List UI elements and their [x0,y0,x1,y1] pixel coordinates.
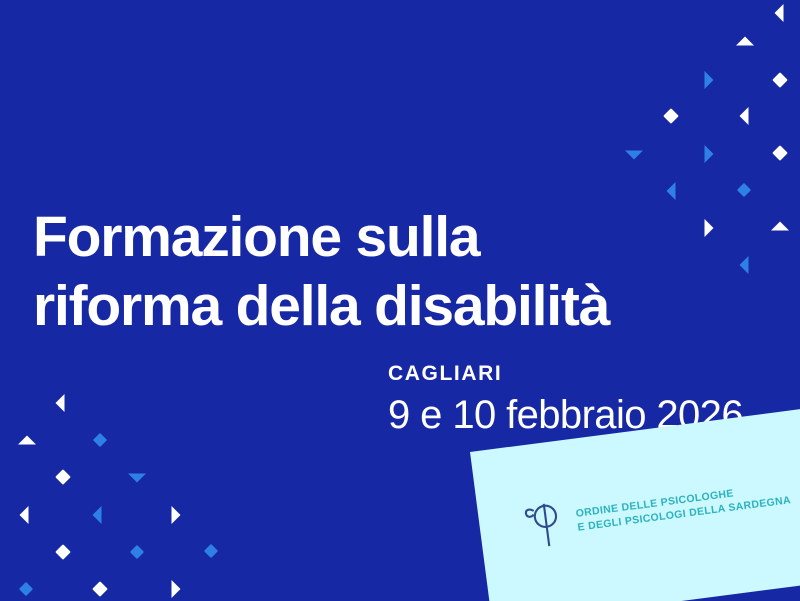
logo-text-block: ORDINE DELLE PSICOLOGHE E DEGLI PSICOLOG… [575,479,792,534]
triangle-shape [20,506,29,524]
diamond-shape [93,433,107,447]
diamond-shape [204,544,218,558]
diamond-shape [55,469,71,485]
diamond-shape [772,72,788,88]
diamond-shape [19,582,33,596]
triangle-shape [56,394,65,412]
triangle-shape [625,151,643,160]
triangle-shape [705,145,714,163]
psi-symbol-icon [521,499,567,551]
logo-lockup: ORDINE DELLE PSICOLOGHE E DEGLI PSICOLOG… [521,469,793,550]
headline-line-2: riforma della disabilità [33,272,773,341]
diamond-shape [772,145,788,161]
event-city: CAGLIARI [388,362,743,386]
headline-line-1: Formazione sulla [33,203,773,272]
triangle-shape [771,222,789,231]
triangle-shape [740,107,749,125]
diamond-shape [92,581,108,597]
triangle-shape [18,436,36,445]
triangle-shape [93,506,102,524]
triangle-shape [172,506,181,524]
event-poster: Formazione sulla riforma della disabilit… [0,0,800,601]
triangle-shape [172,580,181,598]
diamond-shape [737,183,751,197]
triangle-shape [128,474,146,483]
diamond-shape [130,545,144,559]
triangle-shape [736,37,754,46]
triangle-shape [705,71,714,89]
diamond-shape [663,108,679,124]
poster-headline: Formazione sulla riforma della disabilit… [33,203,773,341]
triangle-shape [667,182,676,200]
diamond-shape [55,544,71,560]
triangle-shape [775,4,784,22]
